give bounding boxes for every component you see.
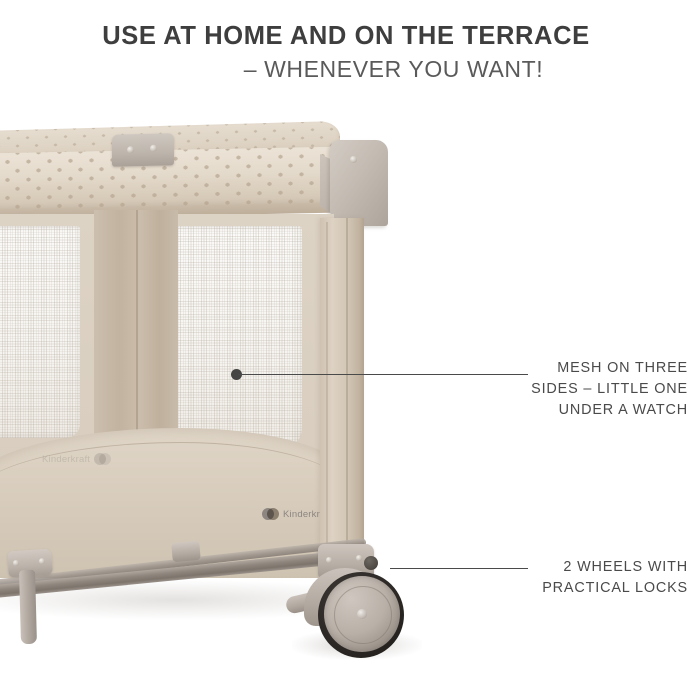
product-photo: Kinderkraft Kinderkraft xyxy=(0,110,430,670)
page-subtitle: – WHENEVER YOU WANT! xyxy=(0,56,692,82)
mesh-panel-left xyxy=(0,226,80,438)
page-title: USE AT HOME AND ON THE TERRACE xyxy=(0,22,692,51)
callout-mesh: MESH ON THREE SIDES – LITTLE ONE UNDER A… xyxy=(438,358,688,422)
brand-mark-faint-icon xyxy=(94,453,111,465)
corner-cap-rivet xyxy=(350,156,357,163)
caster-mount-rivet-left xyxy=(326,557,332,563)
top-rail-hinge-bracket xyxy=(112,133,174,167)
brand-mark-icon xyxy=(262,508,279,520)
cot-right-post-seam xyxy=(326,222,328,552)
headline-block: USE AT HOME AND ON THE TERRACE – WHENEVE… xyxy=(0,22,700,83)
cot-left-leg xyxy=(19,570,37,644)
bottom-rail-hinge xyxy=(171,541,201,562)
leg-bracket-rivet-left xyxy=(13,560,19,566)
callout-mesh-line-3: UNDER A WATCH xyxy=(438,400,688,421)
brand-logo-faint: Kinderkraft xyxy=(42,453,111,465)
caster-mount-rivet-right xyxy=(356,555,362,561)
callout-wheels: 2 WHEELS WITH PRACTICAL LOCKS xyxy=(438,557,688,599)
callout-wheels-line-2: PRACTICAL LOCKS xyxy=(438,578,688,599)
corner-plastic-cap xyxy=(330,140,388,226)
wheel-axle-cap xyxy=(357,609,367,619)
cot-body: Kinderkraft Kinderkraft xyxy=(0,110,370,580)
hinge-rivet-right xyxy=(150,145,157,152)
infographic-page: USE AT HOME AND ON THE TERRACE – WHENEVE… xyxy=(0,0,700,700)
mesh-panel-right xyxy=(162,226,302,450)
callout-mesh-line-1: MESH ON THREE xyxy=(438,358,688,379)
hinge-rivet-left xyxy=(127,146,134,153)
cot-right-post-edge xyxy=(346,218,348,566)
caster-pivot-icon xyxy=(364,556,378,570)
callout-wheels-line-1: 2 WHEELS WITH xyxy=(438,557,688,578)
callout-mesh-line-2: SIDES – LITTLE ONE xyxy=(438,379,688,400)
leg-bracket-rivet-right xyxy=(39,558,45,564)
brand-logo-faint-text: Kinderkraft xyxy=(42,454,90,465)
